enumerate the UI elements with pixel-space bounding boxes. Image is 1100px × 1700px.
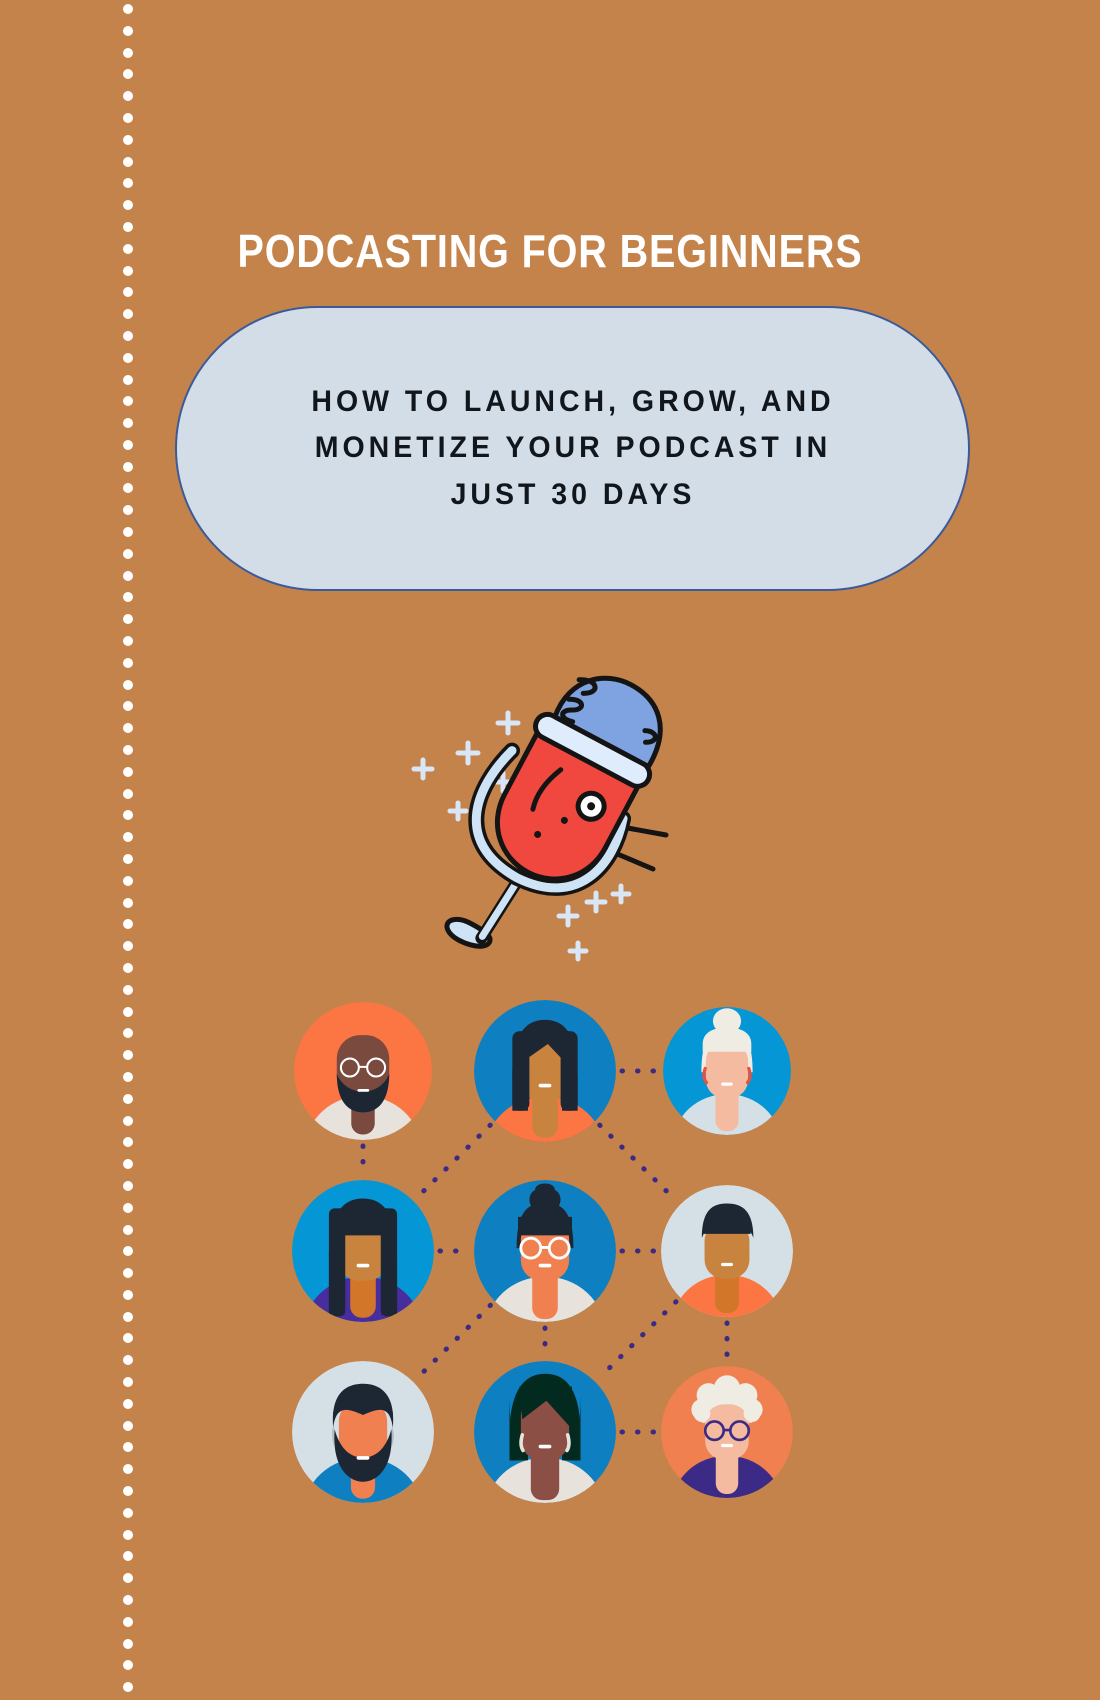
avatar-8[interactable] [474, 1361, 616, 1503]
rule-dot [123, 91, 133, 101]
rule-dot [123, 571, 133, 581]
avatar-9[interactable] [661, 1366, 793, 1498]
rule-dot [123, 592, 133, 602]
rule-dot [123, 26, 133, 36]
avatar-art [474, 1000, 616, 1142]
rule-dot [123, 135, 133, 145]
rule-dot [123, 701, 133, 711]
rule-dot [123, 4, 133, 14]
rule-dot [123, 462, 133, 472]
poster-canvas: PODCASTING FOR BEGINNERS HOW TO LAUNCH, … [0, 0, 1100, 1700]
avatar-art [661, 1366, 793, 1498]
microphone-illustration [400, 655, 720, 995]
rule-dot [123, 614, 133, 624]
rule-dot [123, 745, 133, 755]
rule-dot [123, 331, 133, 341]
rule-dot [123, 941, 133, 951]
rule-dot [123, 440, 133, 450]
rule-dot [123, 69, 133, 79]
avatar-network [0, 960, 1100, 1660]
rule-dot [123, 767, 133, 777]
avatar-2[interactable] [474, 1000, 616, 1142]
rule-dot [123, 549, 133, 559]
rule-dot [123, 505, 133, 515]
rule-dot [123, 375, 133, 385]
rule-dot [123, 396, 133, 406]
avatar-art [474, 1180, 616, 1322]
rule-dot [123, 1660, 133, 1670]
rule-dot [123, 287, 133, 297]
subtitle-pill: HOW TO LAUNCH, GROW, AND MONETIZE YOUR P… [175, 306, 970, 591]
avatar-art [292, 1361, 434, 1503]
avatar-1[interactable] [294, 1002, 432, 1140]
avatar-3[interactable] [663, 1007, 791, 1135]
rule-dot [123, 723, 133, 733]
rule-dot [123, 418, 133, 428]
rule-dot [123, 658, 133, 668]
subtitle-line-2: MONETIZE YOUR PODCAST IN [240, 425, 905, 472]
avatar-art [663, 1007, 791, 1135]
rule-dot [123, 810, 133, 820]
rule-dot [123, 832, 133, 842]
avatar-art [294, 1002, 432, 1140]
avatar-4[interactable] [292, 1180, 434, 1322]
rule-dot [123, 200, 133, 210]
subtitle-line-3: JUST 30 DAYS [240, 472, 905, 519]
avatar-7[interactable] [292, 1361, 434, 1503]
connector-line [600, 1302, 676, 1378]
page-title: PODCASTING FOR BEGINNERS [77, 226, 1023, 277]
avatar-5[interactable] [474, 1180, 616, 1322]
rule-dot [123, 309, 133, 319]
subtitle-line-1: HOW TO LAUNCH, GROW, AND [240, 379, 905, 426]
rule-dot [123, 854, 133, 864]
subtitle-text: HOW TO LAUNCH, GROW, AND MONETIZE YOUR P… [240, 379, 905, 519]
rule-dot [123, 898, 133, 908]
connector-line [600, 1125, 676, 1200]
rule-dot [123, 483, 133, 493]
avatar-art [292, 1180, 434, 1322]
avatar-art [661, 1185, 793, 1317]
rule-dot [123, 113, 133, 123]
connector-line [418, 1305, 491, 1377]
avatar-art [474, 1361, 616, 1503]
connector-line [418, 1125, 491, 1197]
rule-dot [123, 680, 133, 690]
rule-dot [123, 157, 133, 167]
rule-dot [123, 527, 133, 537]
sparkle-group-lower [559, 886, 629, 959]
rule-dot [123, 876, 133, 886]
rule-dot [123, 919, 133, 929]
rule-dot [123, 353, 133, 363]
rule-dot [123, 636, 133, 646]
rule-dot [123, 1682, 133, 1692]
rule-dot [123, 789, 133, 799]
rule-dot [123, 48, 133, 58]
avatar-6[interactable] [661, 1185, 793, 1317]
rule-dot [123, 178, 133, 188]
